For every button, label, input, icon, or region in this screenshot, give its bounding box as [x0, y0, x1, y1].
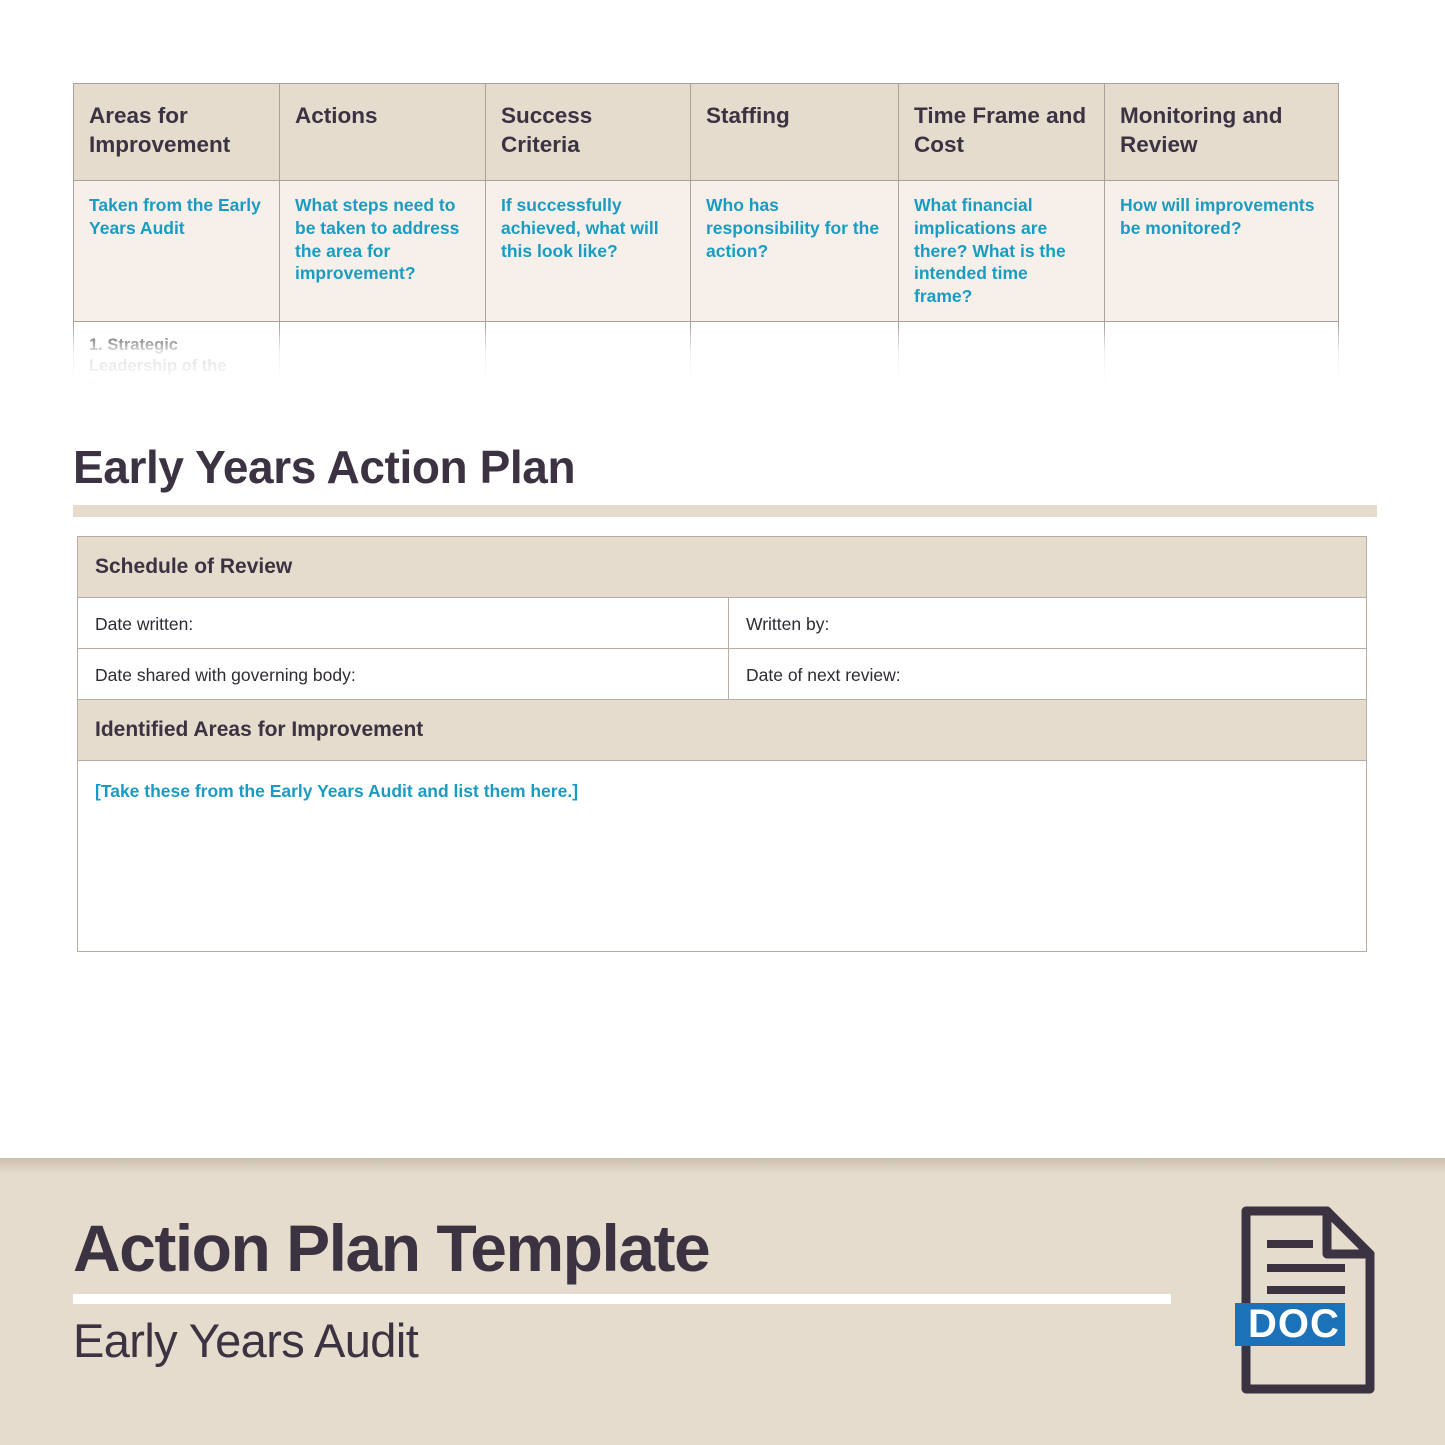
action-plan-table: Areas for Improvement Actions Success Cr…	[73, 83, 1339, 385]
identified-areas-heading: Identified Areas for Improvement	[78, 700, 1366, 761]
table-cell-time-frame-and-cost[interactable]	[899, 321, 1105, 385]
date-of-next-review-field[interactable]: Date of next review:	[729, 649, 1366, 699]
table-cell-success-criteria[interactable]	[486, 321, 691, 385]
identified-areas-placeholder: [Take these from the Early Years Audit a…	[95, 781, 1366, 802]
table-prompt-monitoring-and-review: How will improvements be monitored?	[1105, 181, 1339, 322]
table-row: 1. Strategic Leadership of the Early Yea…	[74, 321, 1339, 385]
table-cell-actions[interactable]	[280, 321, 486, 385]
table-prompt-areas-for-improvement: Taken from the Early Years Audit	[74, 181, 280, 322]
schedule-of-review-block: Schedule of Review Date written: Written…	[77, 536, 1367, 952]
date-written-field[interactable]: Date written:	[78, 598, 729, 648]
footer-top-shadow	[0, 1158, 1445, 1174]
table-header-time-frame-and-cost: Time Frame and Cost	[899, 84, 1105, 181]
table-cell-staffing[interactable]	[691, 321, 899, 385]
written-by-field[interactable]: Written by:	[729, 598, 1366, 648]
table-prompt-row: Taken from the Early Years Audit What st…	[74, 181, 1339, 322]
table-header-success-criteria: Success Criteria	[486, 84, 691, 181]
table-header-actions: Actions	[280, 84, 486, 181]
table-prompt-actions: What steps need to be taken to address t…	[280, 181, 486, 322]
doc-badge-label: DOC	[1248, 1302, 1340, 1346]
footer-subtitle: Early Years Audit	[73, 1315, 418, 1367]
table-header-areas-for-improvement: Areas for Improvement	[74, 84, 280, 181]
title-divider	[73, 505, 1377, 517]
table-preview-region: Areas for Improvement Actions Success Cr…	[0, 0, 1445, 385]
identified-areas-textarea[interactable]: [Take these from the Early Years Audit a…	[78, 761, 1366, 951]
schedule-row-1: Date written: Written by:	[78, 598, 1366, 649]
table-header-monitoring-and-review: Monitoring and Review	[1105, 84, 1339, 181]
table-header-row: Areas for Improvement Actions Success Cr…	[74, 84, 1339, 181]
table-cell-area-label: 1. Strategic Leadership of the Early Yea…	[74, 321, 280, 385]
table-prompt-time-frame-and-cost: What financial implications are there? W…	[899, 181, 1105, 322]
page-title: Early Years Action Plan	[73, 443, 575, 491]
table-prompt-success-criteria: If successfully achieved, what will this…	[486, 181, 691, 322]
date-shared-with-governing-body-field[interactable]: Date shared with governing body:	[78, 649, 729, 699]
schedule-of-review-heading: Schedule of Review	[78, 537, 1366, 598]
footer-divider	[73, 1294, 1171, 1304]
table-prompt-staffing: Who has responsibility for the action?	[691, 181, 899, 322]
table-cell-monitoring-and-review[interactable]	[1105, 321, 1339, 385]
doc-file-icon: DOC	[1235, 1200, 1381, 1400]
footer-title: Action Plan Template	[73, 1215, 709, 1281]
schedule-row-2: Date shared with governing body: Date of…	[78, 649, 1366, 700]
document-outline-path	[1246, 1211, 1370, 1389]
table-header-staffing: Staffing	[691, 84, 899, 181]
